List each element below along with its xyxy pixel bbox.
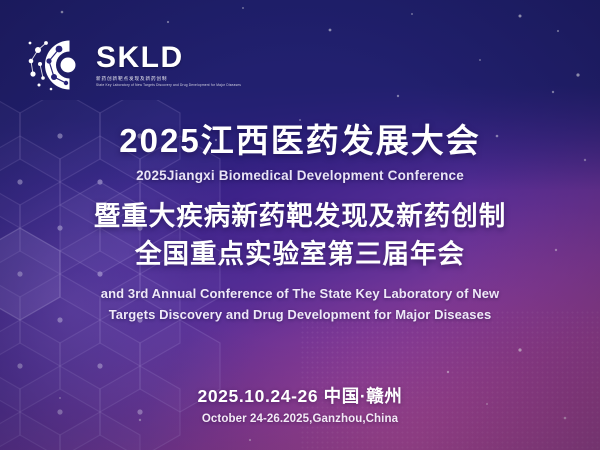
sub-title-en-line1: and 3rd Annual Conference of The State K… [0, 284, 600, 305]
sub-title-en-line2: Targets Discovery and Drug Development f… [0, 305, 600, 326]
date-location-en: October 24-26.2025,Ganzhou,China [0, 413, 600, 425]
sub-title-cn-line1: 暨重大疾病新药靶发现及新药创制 [0, 199, 600, 233]
logo-english-name: State Key Laboratory of New Targets Disc… [96, 83, 241, 87]
skld-logo: SKLD 新药创新靶点发现及新药创制 State Key Laboratory … [28, 34, 241, 96]
logo-acronym: SKLD [96, 43, 241, 73]
sub-title-cn-line2: 全国重点实验室第三届年会 [0, 237, 600, 271]
conference-poster: SKLD 新药创新靶点发现及新药创制 State Key Laboratory … [0, 0, 600, 450]
logo-chinese-name: 新药创新靶点发现及新药创制 [96, 76, 241, 82]
footer-block: 2025.10.24-26 中国·赣州 October 24-26.2025,G… [0, 383, 600, 425]
title-block: 2025江西医药发展大会 2025Jiangxi Biomedical Deve… [0, 122, 600, 325]
main-title-cn: 2025江西医药发展大会 [0, 122, 600, 161]
date-location-cn: 2025.10.24-26 中国·赣州 [0, 383, 600, 408]
main-title-en: 2025Jiangxi Biomedical Development Confe… [0, 168, 600, 183]
molecular-c-logo-icon [28, 34, 92, 96]
logo-text-block: SKLD 新药创新靶点发现及新药创制 State Key Laboratory … [96, 43, 241, 88]
